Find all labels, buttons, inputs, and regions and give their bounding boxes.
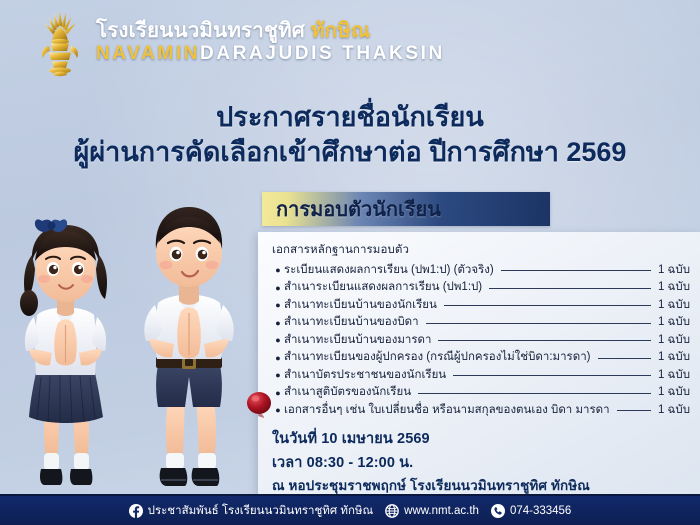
- leader-line: [453, 375, 651, 376]
- document-quantity: 1 ฉบับ: [658, 384, 690, 401]
- facebook-icon: [129, 504, 143, 518]
- leader-line: [501, 270, 651, 271]
- poster-header: โรงเรียนนวมินทราชูทิศ ทักษิณ NAVAMINDARA…: [0, 0, 700, 88]
- leader-line: [489, 288, 651, 289]
- event-time: เวลา 08:30 - 12:00 น.: [272, 452, 690, 475]
- bullet-icon: ●: [272, 284, 284, 293]
- bullet-icon: ●: [272, 389, 284, 398]
- document-quantity: 1 ฉบับ: [658, 297, 690, 314]
- document-label: ระเบียนแสดงผลการเรียน (ปพ1:ป) (ตัวจริง): [284, 262, 494, 279]
- school-name-english: NAVAMINDARAJUDIS THAKSIN: [96, 44, 445, 65]
- school-name-block: โรงเรียนนวมินทราชูทิศ ทักษิณ NAVAMINDARA…: [96, 19, 445, 64]
- school-name-english-main: DARAJUDIS THAKSIN: [200, 43, 445, 64]
- red-pushpin-icon: [245, 389, 273, 419]
- document-label: สำเนาสูติบัตรของนักเรียน: [284, 384, 411, 401]
- footer-facebook-label: ประชาสัมพันธ์ โรงเรียนนวมินทราชูทิศ ทักษ…: [148, 502, 374, 520]
- document-quantity: 1 ฉบับ: [658, 367, 690, 384]
- document-label: สำเนาทะเบียนของผู้ปกครอง (กรณีผู้ปกครองไ…: [284, 349, 591, 366]
- student-illustrations: [0, 157, 265, 497]
- footer-phone[interactable]: 074-333456: [491, 504, 571, 518]
- list-item: ● สำเนาทะเบียนบ้านของนักเรียน 1 ฉบับ: [272, 297, 690, 314]
- announcement-poster: โรงเรียนนวมินทราชูทิศ ทักษิณ NAVAMINDARA…: [0, 0, 700, 525]
- document-quantity: 1 ฉบับ: [658, 279, 690, 296]
- list-item: ● สำเนาสูติบัตรของนักเรียน 1 ฉบับ: [272, 384, 690, 401]
- list-item: ● สำเนาทะเบียนบ้านของบิดา 1 ฉบับ: [272, 314, 690, 331]
- document-label: เอกสารอื่นๆ เช่น ใบเปลี่ยนชื่อ หรือนามสก…: [284, 402, 610, 419]
- documents-lead-label: เอกสารหลักฐานการมอบตัว: [272, 241, 690, 259]
- document-quantity: 1 ฉบับ: [658, 349, 690, 366]
- list-item: ● สำเนาระเบียนแสดงผลการเรียน (ปพ1:ป) 1 ฉ…: [272, 279, 690, 296]
- leader-line: [418, 393, 651, 394]
- bullet-icon: ●: [272, 336, 284, 345]
- document-label: สำเนาทะเบียนบ้านของบิดา: [284, 314, 419, 331]
- document-label: สำเนาบัตรประชาชนของนักเรียน: [284, 367, 446, 384]
- document-panel: เอกสารหลักฐานการมอบตัว ● ระเบียนแสดงผลกา…: [258, 232, 700, 494]
- globe-icon: [385, 504, 399, 518]
- document-label: สำเนาทะเบียนบ้านของมารดา: [284, 332, 431, 349]
- event-date: ในวันที่ 10 เมษายน 2569: [272, 428, 690, 451]
- bullet-icon: ●: [272, 406, 284, 415]
- boy-student-wai-icon: [128, 167, 253, 497]
- bullet-icon: ●: [272, 301, 284, 310]
- school-name-thai-accent: ทักษิณ: [311, 19, 370, 42]
- document-label: สำเนาระเบียนแสดงผลการเรียน (ปพ1:ป): [284, 279, 482, 296]
- leader-line: [438, 340, 651, 341]
- document-label: สำเนาทะเบียนบ้านของนักเรียน: [284, 297, 437, 314]
- footer-website-label: www.nmt.ac.th: [404, 505, 479, 517]
- list-item: ● ระเบียนแสดงผลการเรียน (ปพ1:ป) (ตัวจริง…: [272, 262, 690, 279]
- leader-line: [617, 410, 651, 411]
- leader-line: [598, 358, 651, 359]
- document-quantity: 1 ฉบับ: [658, 262, 690, 279]
- list-item: ● สำเนาทะเบียนของผู้ปกครอง (กรณีผู้ปกครอ…: [272, 349, 690, 366]
- bullet-icon: ●: [272, 354, 284, 363]
- bullet-icon: ●: [272, 266, 284, 275]
- girl-student-wai-icon: [8, 177, 123, 497]
- footer-phone-label: 074-333456: [510, 505, 571, 517]
- footer-facebook[interactable]: ประชาสัมพันธ์ โรงเรียนนวมินทราชูทิศ ทักษ…: [129, 502, 374, 520]
- document-quantity: 1 ฉบับ: [658, 332, 690, 349]
- page-title-line-1: ประกาศรายชื่อนักเรียน: [0, 100, 700, 135]
- footer-website[interactable]: www.nmt.ac.th: [385, 504, 479, 518]
- document-quantity: 1 ฉบับ: [658, 314, 690, 331]
- poster-footer: ประชาสัมพันธ์ โรงเรียนนวมินทราชูทิศ ทักษ…: [0, 494, 700, 525]
- royal-crest-icon: [38, 10, 82, 78]
- section-banner: การมอบตัวนักเรียน: [262, 192, 550, 226]
- bullet-icon: ●: [272, 371, 284, 380]
- page-title-line-2: ผู้ผ่านการคัดเลือกเข้าศึกษาต่อ ปีการศึกษ…: [0, 135, 700, 170]
- list-item: ● สำเนาบัตรประชาชนของนักเรียน 1 ฉบับ: [272, 367, 690, 384]
- section-banner-title: การมอบตัวนักเรียน: [276, 193, 441, 225]
- document-quantity: 1 ฉบับ: [658, 402, 690, 419]
- event-details: ในวันที่ 10 เมษายน 2569 เวลา 08:30 - 12:…: [272, 428, 690, 497]
- list-item: ● เอกสารอื่นๆ เช่น ใบเปลี่ยนชื่อ หรือนาม…: [272, 402, 690, 419]
- leader-line: [444, 305, 651, 306]
- page-title: ประกาศรายชื่อนักเรียน ผู้ผ่านการคัดเลือก…: [0, 100, 700, 170]
- bullet-icon: ●: [272, 319, 284, 328]
- leader-line: [426, 323, 651, 324]
- list-item: ● สำเนาทะเบียนบ้านของมารดา 1 ฉบับ: [272, 332, 690, 349]
- school-name-thai-main: โรงเรียนนวมินทราชูทิศ: [96, 19, 311, 42]
- school-name-thai: โรงเรียนนวมินทราชูทิศ ทักษิณ: [96, 19, 445, 43]
- phone-icon: [491, 504, 505, 518]
- school-name-english-accent: NAVAMIN: [96, 43, 200, 64]
- required-documents-list: ● ระเบียนแสดงผลการเรียน (ปพ1:ป) (ตัวจริง…: [272, 262, 690, 419]
